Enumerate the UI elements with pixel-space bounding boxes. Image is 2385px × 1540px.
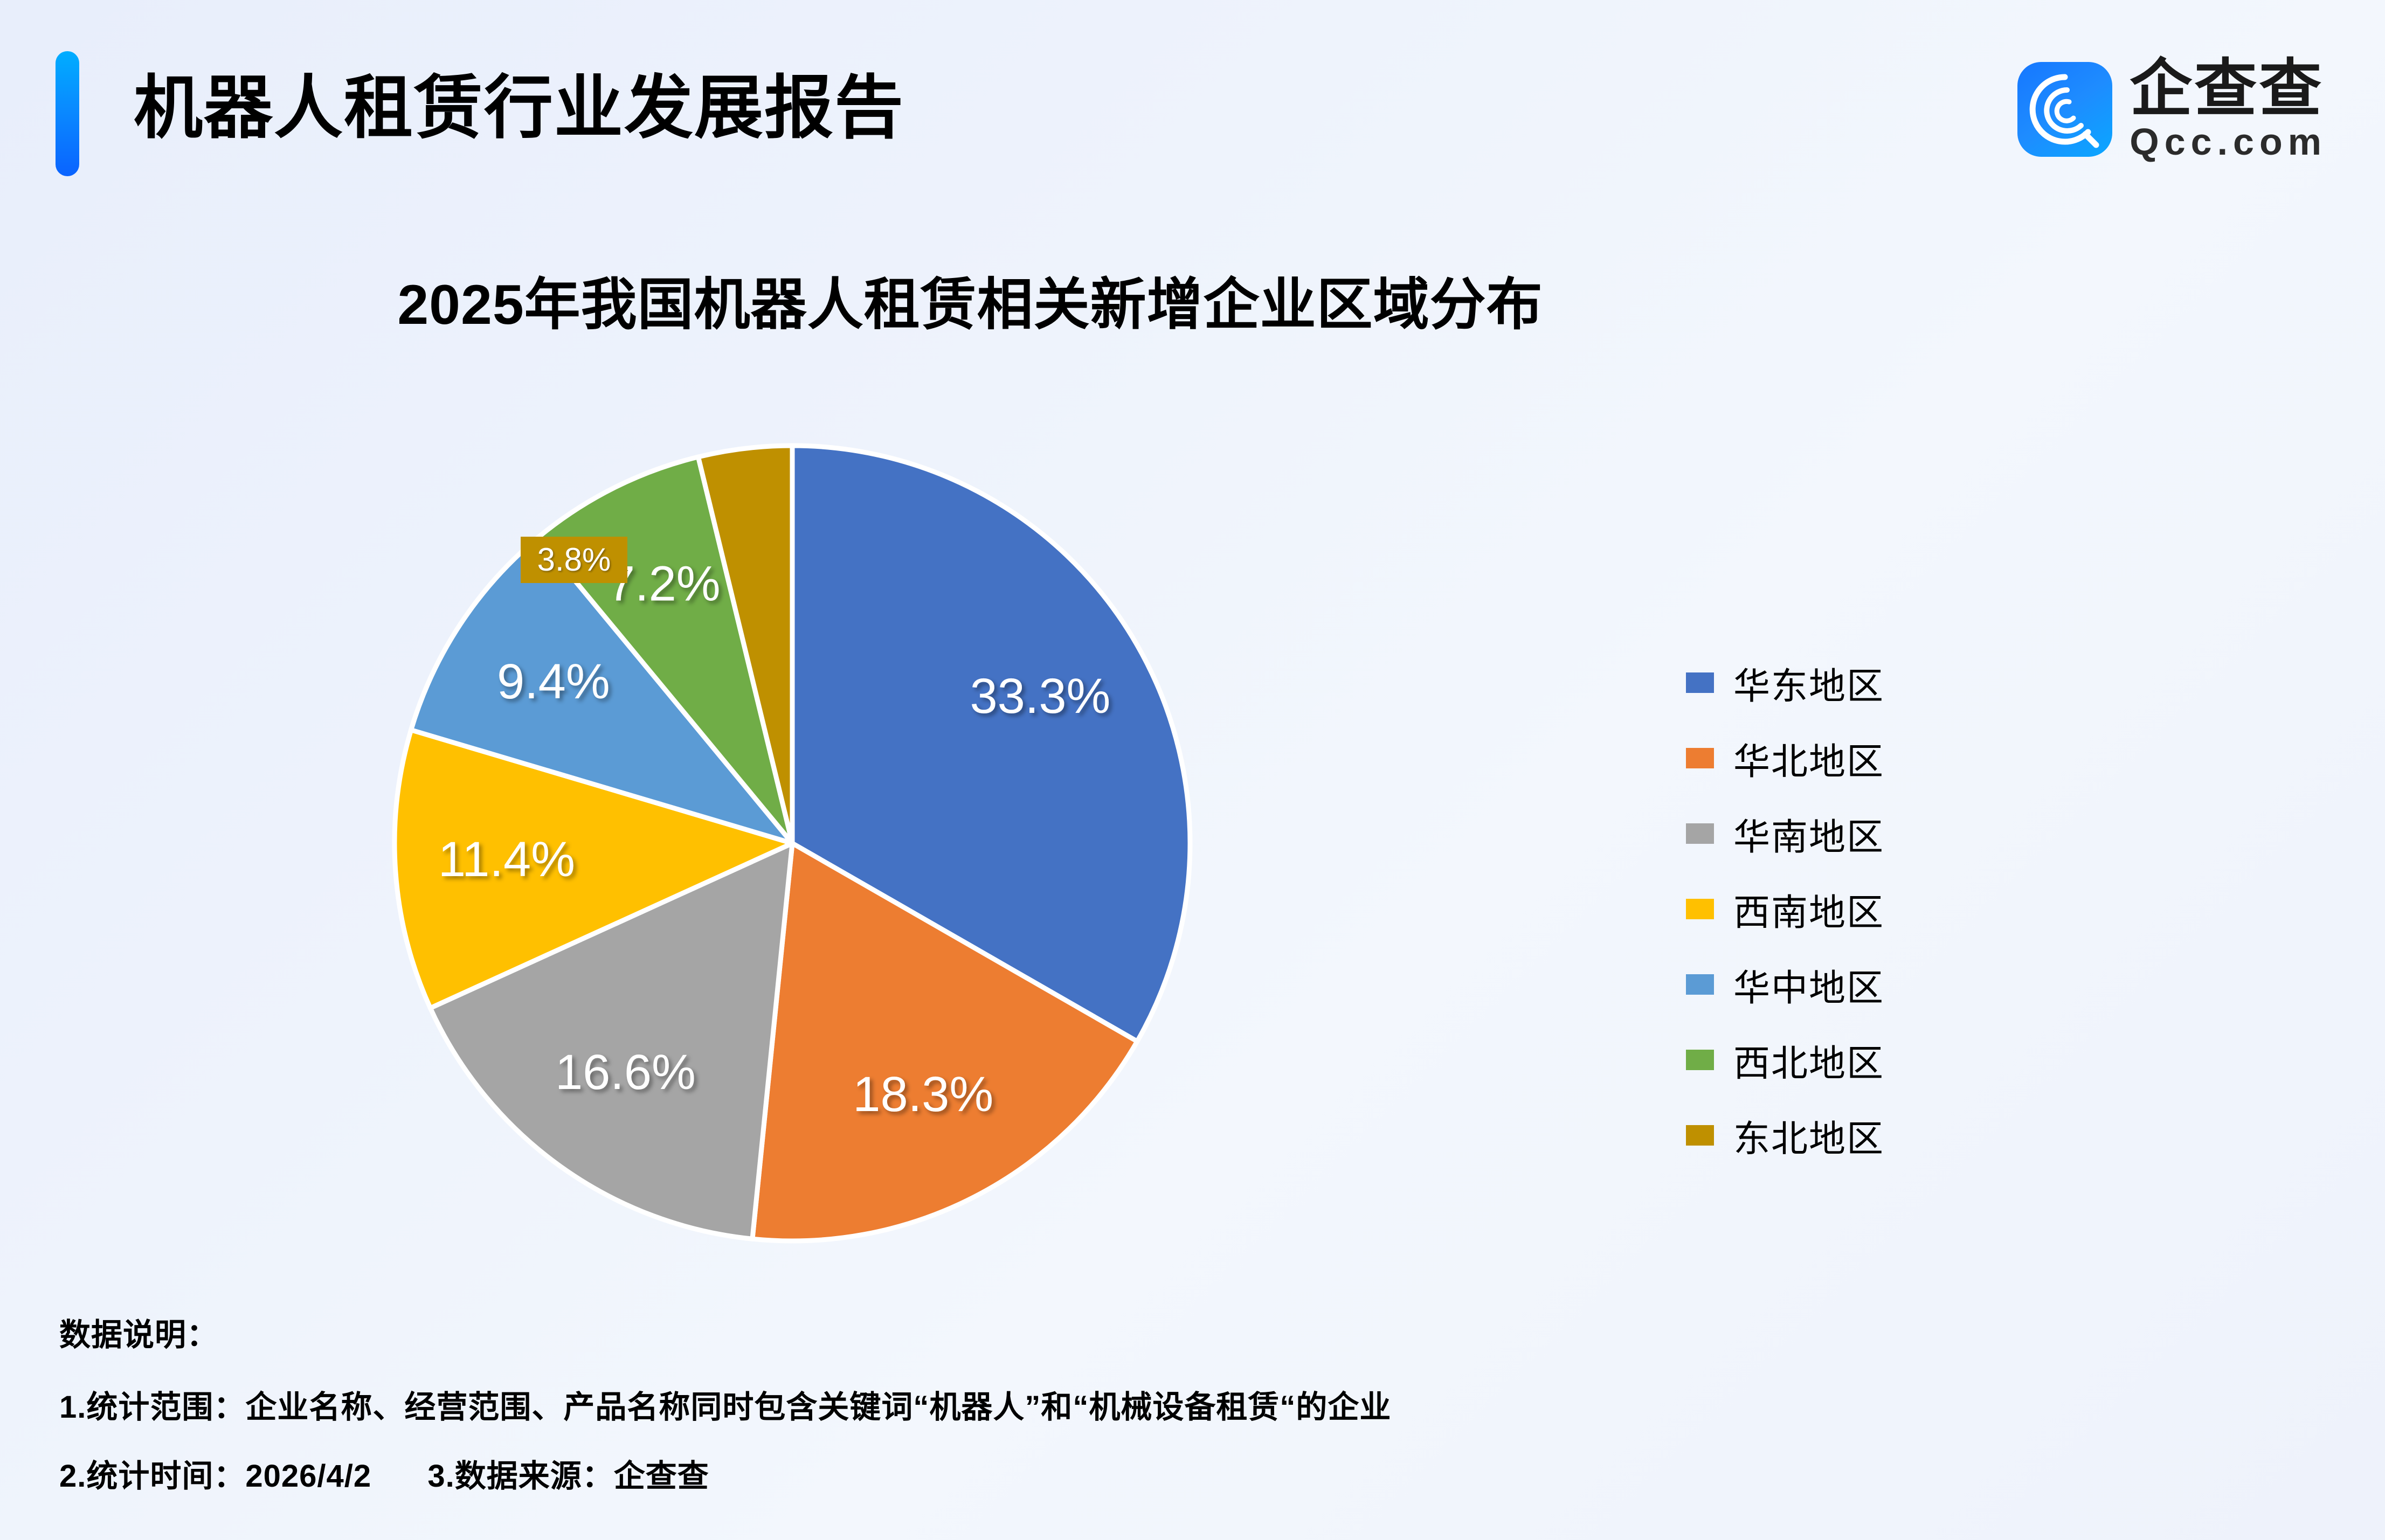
footnote-stat-time: 2.统计时间：2026/4/2 xyxy=(59,1459,371,1494)
footnote-line-2: 2.统计时间：2026/4/2 3.数据来源：企查查 xyxy=(59,1451,2215,1496)
legend-color-swatch xyxy=(1686,1125,1714,1146)
legend-item-label: 西南地区 xyxy=(1733,883,1884,936)
page-title: 机器人租赁行业发展报告 xyxy=(134,58,904,158)
legend-item-label: 华南地区 xyxy=(1733,807,1884,861)
legend-item[interactable]: 东北地区 xyxy=(1686,1098,1884,1173)
legend-item[interactable]: 西南地区 xyxy=(1686,871,1884,947)
callout-value: 3.8% xyxy=(537,544,611,576)
legend-item-label: 华中地区 xyxy=(1733,958,1884,1011)
pie-slice-label: 16.6% xyxy=(555,1045,696,1100)
legend-item-label: 西北地区 xyxy=(1733,1033,1884,1087)
chart-title: 2025年我国机器人租赁相关新增企业区域分布 xyxy=(0,259,1940,340)
footnote-source: 3.数据来源：企查查 xyxy=(427,1459,709,1494)
qcc-spiral-q-icon xyxy=(2017,62,2112,157)
pie-slice-label: 11.4% xyxy=(438,832,575,887)
page-header: 机器人租赁行业发展报告 企查查 Qcc.com xyxy=(0,0,2385,216)
legend-color-swatch xyxy=(1686,899,1714,919)
chart-legend: 华东地区华北地区华南地区西南地区华中地区西北地区东北地区 xyxy=(1686,645,1884,1173)
logo-brand-cn: 企查查 xyxy=(2130,57,2327,120)
callout-box-east-northeast: 3.8% xyxy=(521,537,627,583)
footnote-heading: 数据说明： xyxy=(59,1309,2215,1355)
brand-logo[interactable]: 企查查 Qcc.com xyxy=(2017,42,2327,177)
legend-color-swatch xyxy=(1686,823,1714,844)
legend-item-label: 华东地区 xyxy=(1733,656,1884,710)
legend-color-swatch xyxy=(1686,748,1714,768)
legend-color-swatch xyxy=(1686,1050,1714,1070)
legend-item[interactable]: 华北地区 xyxy=(1686,720,1884,796)
pie-slice-label: 18.3% xyxy=(853,1067,993,1122)
legend-item[interactable]: 华中地区 xyxy=(1686,947,1884,1022)
accent-bar xyxy=(56,51,79,176)
logo-domain: Qcc.com xyxy=(2130,122,2327,162)
logo-text: 企查查 Qcc.com xyxy=(2130,57,2327,162)
pie-chart: 33.3%18.3%16.6%11.4%9.4%7.2% 3.8% xyxy=(372,399,1234,1293)
footnote-line-1: 1.统计范围：企业名称、经营范围、产品名称同时包含关键词“机器人”和“机械设备租… xyxy=(59,1382,2215,1427)
legend-item[interactable]: 华南地区 xyxy=(1686,796,1884,871)
legend-item-label: 东北地区 xyxy=(1733,1109,1884,1162)
legend-item[interactable]: 华东地区 xyxy=(1686,645,1884,720)
footnotes: 数据说明： 1.统计范围：企业名称、经营范围、产品名称同时包含关键词“机器人”和… xyxy=(59,1309,2215,1520)
legend-item-label: 华北地区 xyxy=(1733,732,1884,785)
legend-item[interactable]: 西北地区 xyxy=(1686,1022,1884,1098)
legend-color-swatch xyxy=(1686,974,1714,995)
legend-color-swatch xyxy=(1686,672,1714,693)
pie-slice-label: 33.3% xyxy=(970,669,1110,724)
pie-slice-label: 9.4% xyxy=(497,654,610,709)
